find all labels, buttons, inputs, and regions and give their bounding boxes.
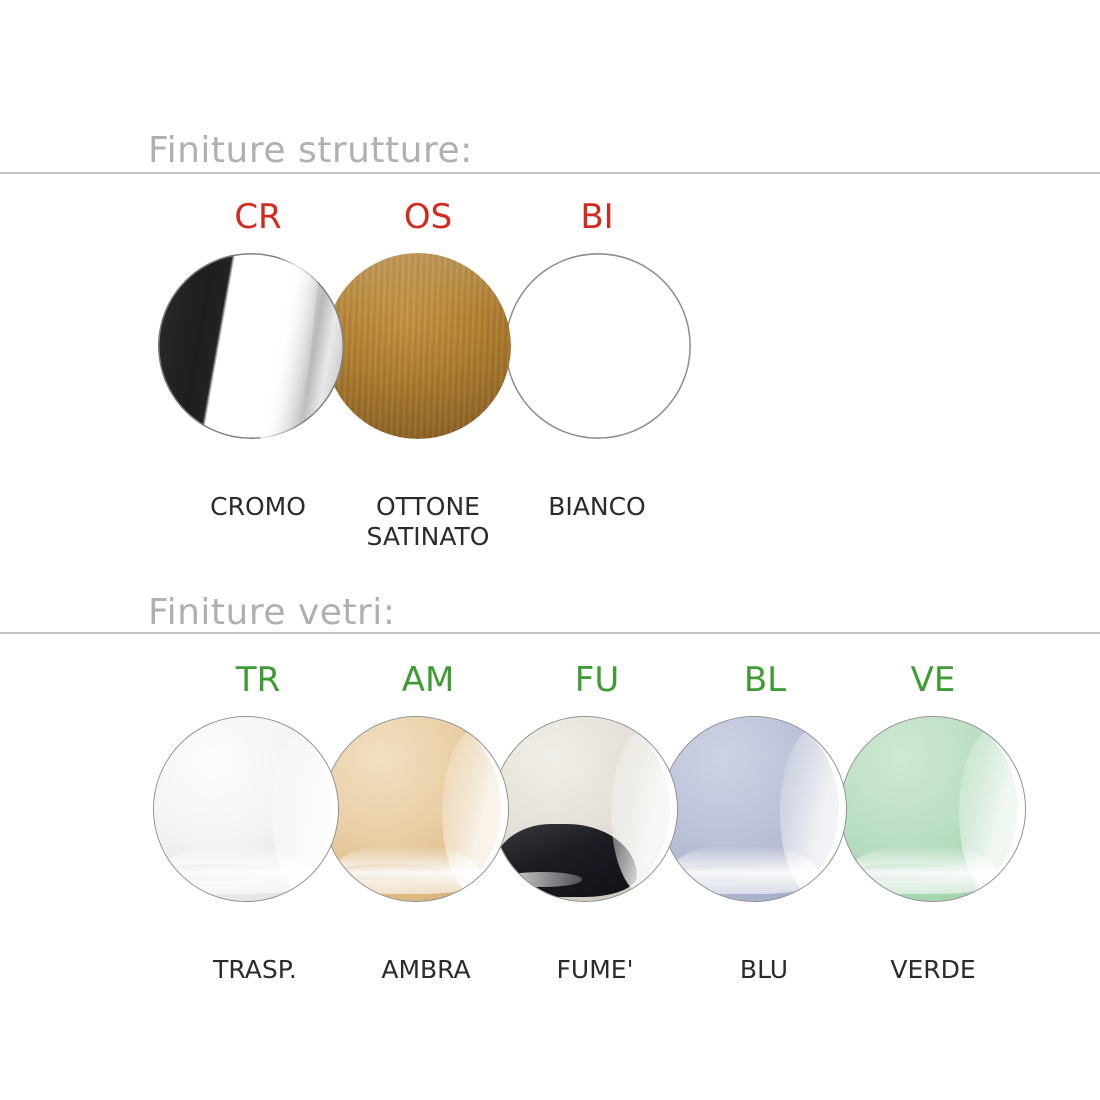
label-ambra: AMBRA <box>381 955 470 985</box>
label-bianco: BIANCO <box>548 492 645 522</box>
label-cromo: CROMO <box>210 492 306 522</box>
verde-sheen <box>959 728 1026 897</box>
code-ve: VE <box>911 660 956 700</box>
swatch-trasparente[interactable] <box>153 716 339 902</box>
swatch-bianco[interactable] <box>505 253 691 439</box>
label-trasparente: TRASP. <box>213 955 297 985</box>
code-tr: TR <box>236 660 280 700</box>
section-heading-vetri: Finiture vetri: <box>148 592 395 633</box>
cromo-surface <box>158 253 344 439</box>
label-ottone-satinato: OTTONE SATINATO <box>367 492 490 551</box>
code-cr: CR <box>234 197 281 237</box>
label-ottone-line1: OTTONE <box>367 492 490 522</box>
code-fu: FU <box>575 660 619 700</box>
section-divider-strutture <box>0 172 1100 174</box>
label-verde: VERDE <box>890 955 975 985</box>
label-ottone-line2: SATINATO <box>367 522 490 552</box>
code-os: OS <box>404 197 452 237</box>
swatch-ambra[interactable] <box>323 716 509 902</box>
finishes-chart: Finiture strutture: CR OS BI CROMO OTTON… <box>0 0 1100 1100</box>
code-bl: BL <box>744 660 786 700</box>
blu-sheen <box>780 728 847 897</box>
swatch-ottone-satinato[interactable] <box>325 253 511 439</box>
trasp-sheen <box>272 728 339 897</box>
swatch-fume[interactable] <box>492 716 678 902</box>
swatch-verde[interactable] <box>840 716 1026 902</box>
code-bi: BI <box>580 197 613 237</box>
label-fume: FUME' <box>557 955 634 985</box>
swatch-blu[interactable] <box>661 716 847 902</box>
label-blu: BLU <box>740 955 788 985</box>
section-divider-vetri <box>0 632 1100 634</box>
bianco-surface <box>505 253 691 439</box>
section-heading-strutture: Finiture strutture: <box>148 130 473 171</box>
ambra-sheen <box>442 728 509 897</box>
code-am: AM <box>402 660 455 700</box>
swatch-cromo[interactable] <box>158 253 344 439</box>
fume-sheen <box>611 728 678 897</box>
ottone-surface <box>325 253 511 439</box>
